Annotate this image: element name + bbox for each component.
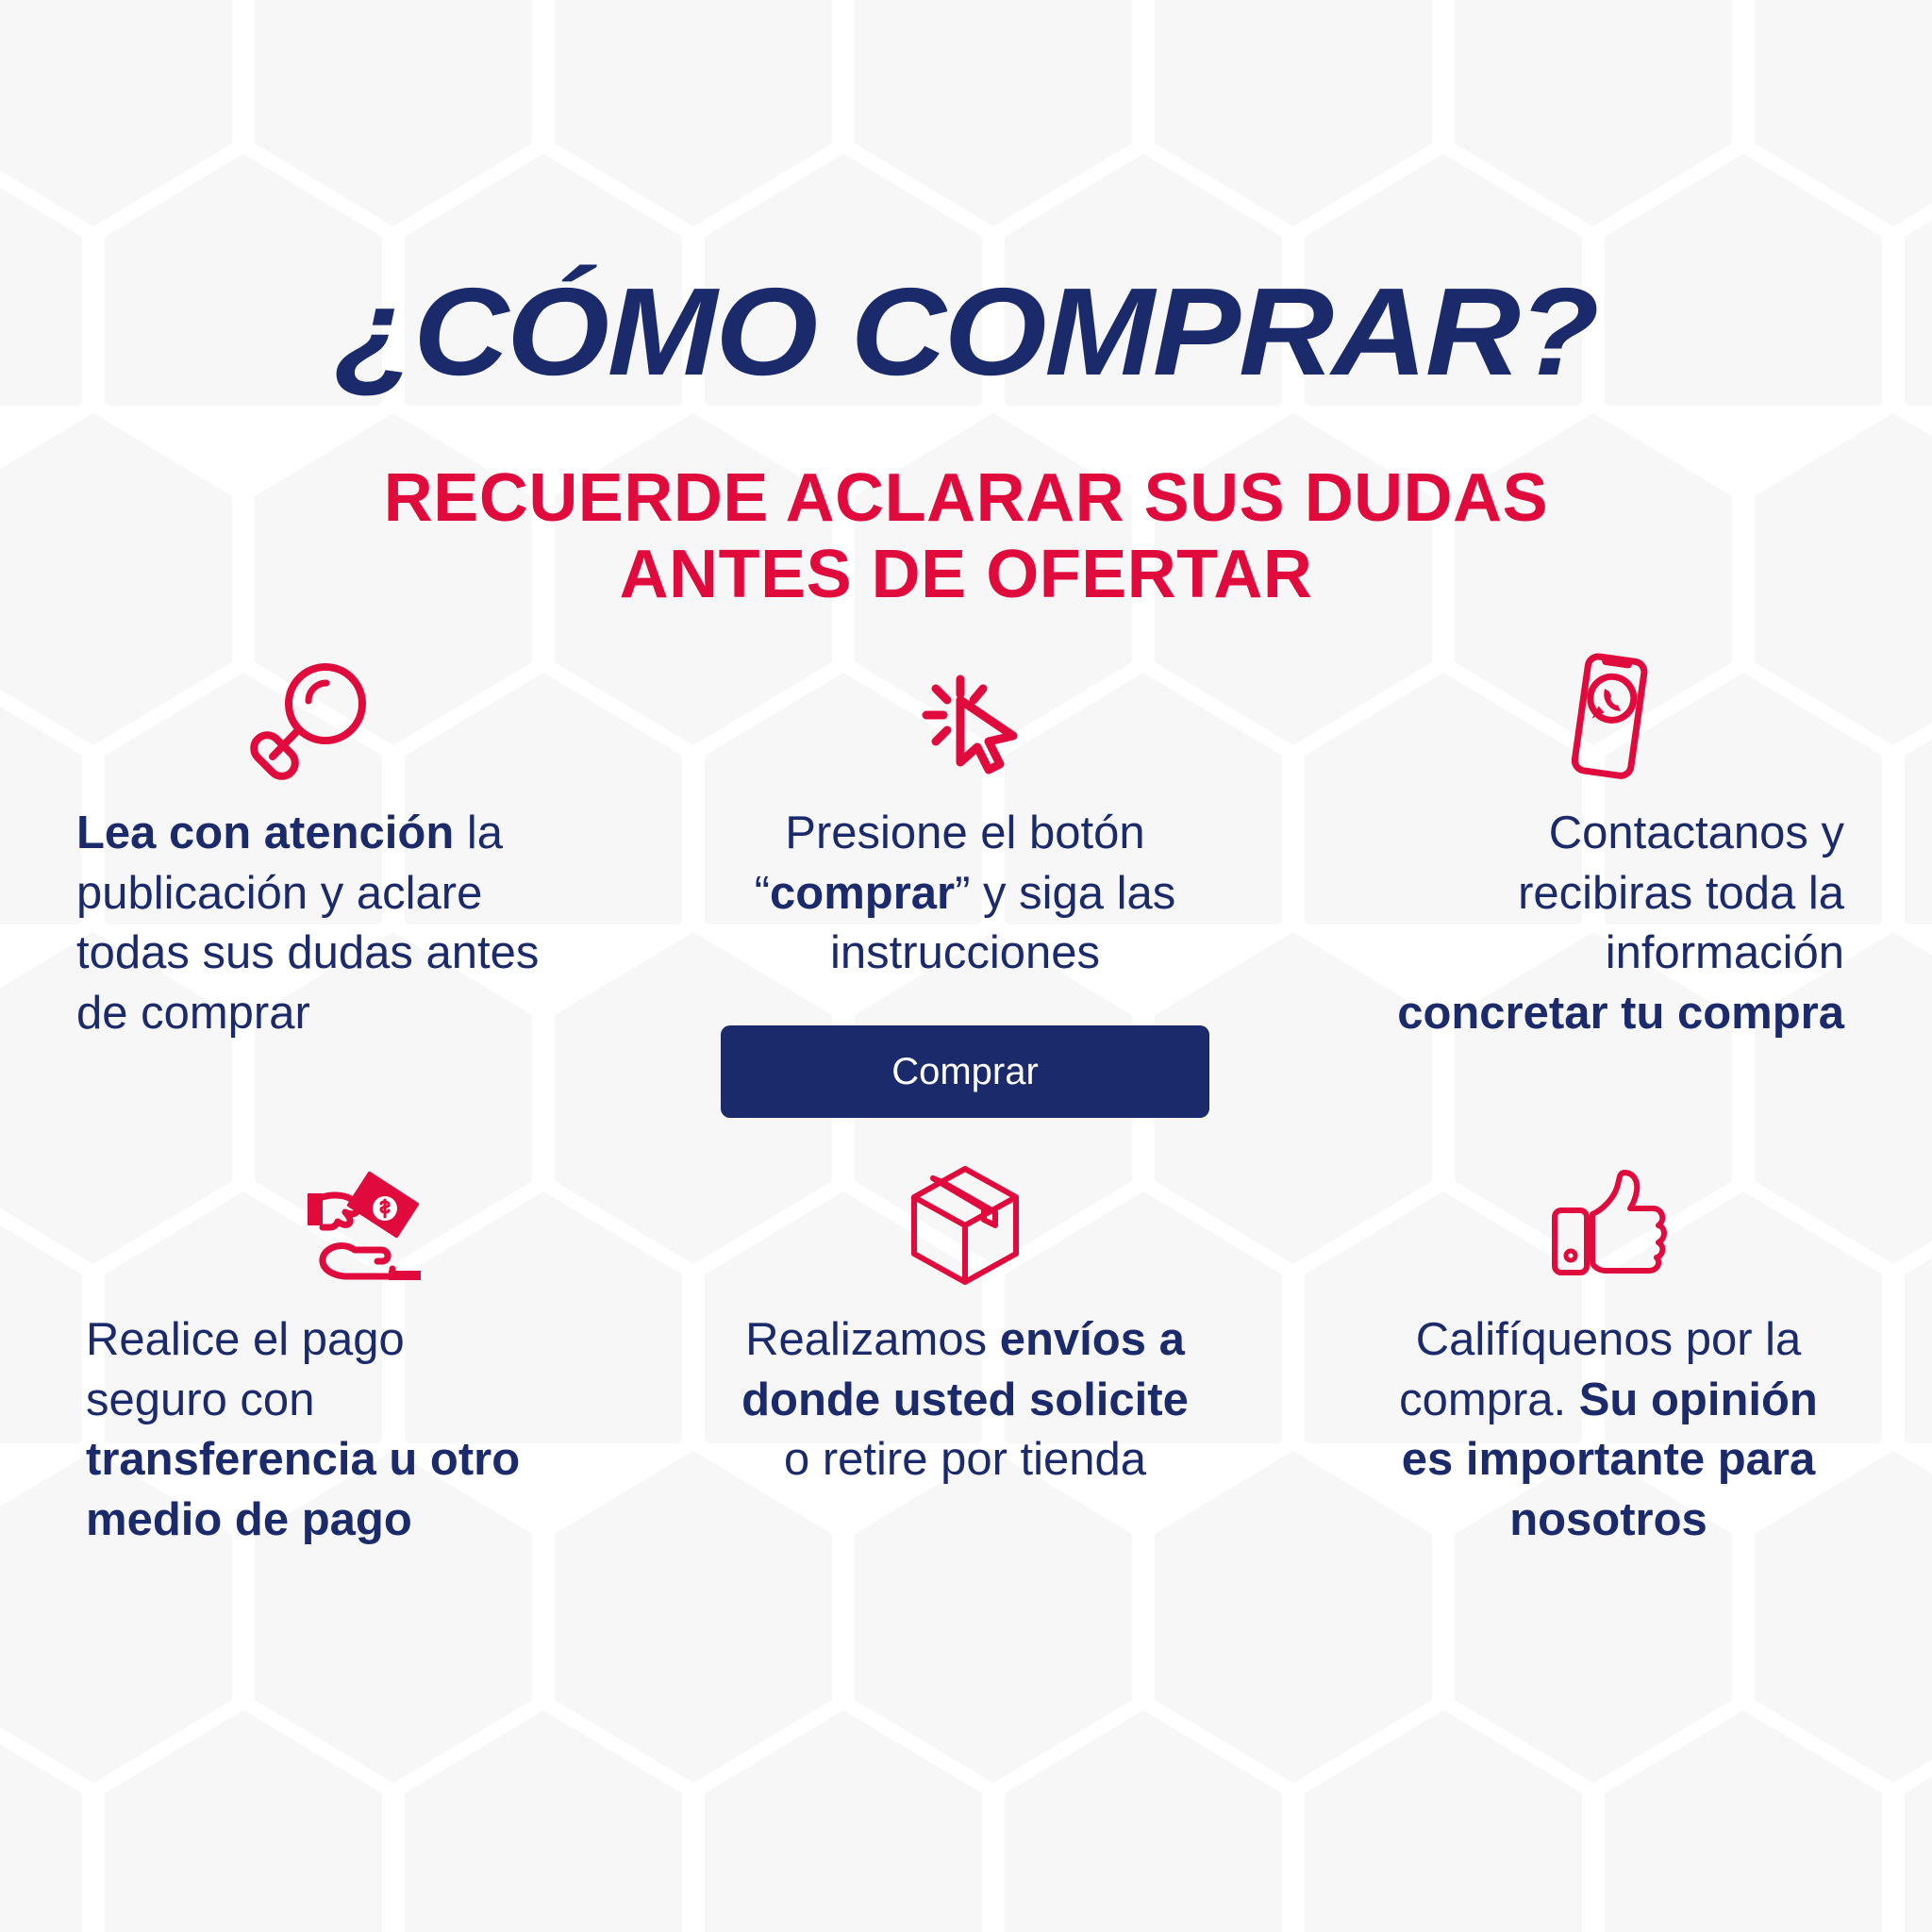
step-card-read-listing: Lea con atención la publicación y aclare…: [0, 651, 643, 1118]
comprar-button[interactable]: Comprar: [721, 1025, 1209, 1118]
step-card-shipping: Realizamos envíos adonde usted soliciteo…: [643, 1158, 1287, 1551]
step-text: Presione el botón“comprar” y siga lasins…: [720, 804, 1210, 984]
subtitle-line-1: RECUERDE ACLARAR SUS DUDAS: [384, 460, 1548, 536]
step-card-secure-payment: Realice el pagoseguro contransferencia u…: [0, 1158, 643, 1551]
step-card-rate-us: Califíquenos por lacompra. Su opiniónes …: [1287, 1158, 1930, 1551]
money-hands-icon: [298, 1158, 440, 1290]
step-text: Lea con atención la publicación y aclare…: [76, 804, 567, 1044]
package-box-icon: [905, 1158, 1025, 1290]
step-text: Califíquenos por lacompra. Su opiniónes …: [1363, 1310, 1854, 1551]
step-card-press-buy: Presione el botón“comprar” y siga lasins…: [643, 651, 1287, 1118]
click-cursor-icon: [919, 651, 1030, 783]
thumbs-up-icon: [1547, 1158, 1670, 1290]
infographic-page: ¿CÓMO COMPRAR? RECUERDE ACLARAR SUS DUDA…: [0, 0, 1932, 1932]
step-card-contact-us: Contactanos yrecibiras toda lainformació…: [1287, 651, 1930, 1118]
step-text: Realice el pagoseguro contransferencia u…: [86, 1310, 558, 1551]
steps-grid: Lea con atención la publicación y aclare…: [0, 651, 1932, 1551]
page-title: ¿CÓMO COMPRAR?: [0, 270, 1932, 394]
steps-row-bottom: Realice el pagoseguro contransferencia u…: [0, 1158, 1932, 1551]
magnifier-icon: [250, 651, 371, 783]
page-title-block: ¿CÓMO COMPRAR?: [0, 270, 1932, 394]
steps-row-top: Lea con atención la publicación y aclare…: [0, 651, 1932, 1118]
step-text: Contactanos yrecibiras toda lainformació…: [1373, 804, 1844, 1044]
subtitle-line-2: ANTES DE OFERTAR: [0, 537, 1932, 613]
whatsapp-phone-icon: [1557, 651, 1660, 783]
step-text: Realizamos envíos adonde usted soliciteo…: [720, 1310, 1210, 1491]
page-subtitle: RECUERDE ACLARAR SUS DUDAS ANTES DE OFER…: [0, 460, 1932, 614]
